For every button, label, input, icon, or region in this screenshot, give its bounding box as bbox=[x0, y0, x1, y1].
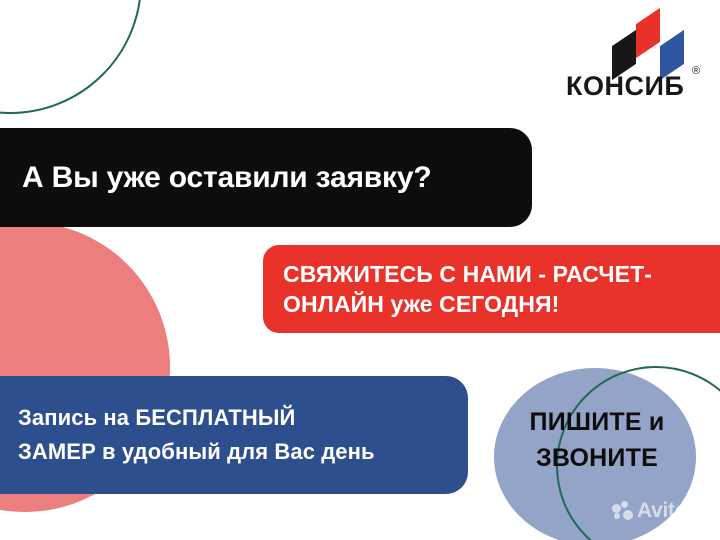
avito-dot-1 bbox=[612, 504, 621, 513]
banner-contact-us-text: СВЯЖИТЕСЬ С НАМИ - РАСЧЕТ- ОНЛАЙН уже СЕ… bbox=[283, 259, 652, 319]
registered-trademark-icon: ® bbox=[692, 66, 700, 77]
banner-free-measurement-text: Запись на БЕСПЛАТНЫЙ ЗАМЕР в удобный для… bbox=[18, 401, 375, 469]
avito-watermark-label: Avito bbox=[637, 500, 687, 521]
callout-write-and-call: ПИШИТЕ и ЗВОНИТЕ bbox=[492, 404, 702, 476]
brand-logo: КОНСИБ ® bbox=[566, 14, 706, 106]
banner-contact-us: СВЯЖИТЕСЬ С НАМИ - РАСЧЕТ- ОНЛАЙН уже СЕ… bbox=[263, 245, 720, 333]
avito-dots-icon bbox=[612, 501, 634, 521]
konsib-logo-mark-icon bbox=[610, 14, 686, 72]
brand-wordmark: КОНСИБ bbox=[566, 70, 706, 102]
avito-watermark: Avito bbox=[612, 500, 687, 521]
banner-question: А Вы уже оставили заявку? bbox=[0, 128, 532, 227]
avito-dot-3 bbox=[614, 513, 620, 519]
logo-parallelogram-red bbox=[636, 8, 660, 58]
banner-free-measurement: Запись на БЕСПЛАТНЫЙ ЗАМЕР в удобный для… bbox=[0, 376, 468, 494]
avito-dot-2 bbox=[621, 501, 628, 508]
green-ring-top-left-icon bbox=[0, 0, 142, 114]
banner-question-text: А Вы уже оставили заявку? bbox=[22, 161, 431, 195]
promo-poster: КОНСИБ ® А Вы уже оставили заявку? СВЯЖИ… bbox=[0, 0, 720, 540]
avito-dot-4 bbox=[623, 510, 633, 520]
